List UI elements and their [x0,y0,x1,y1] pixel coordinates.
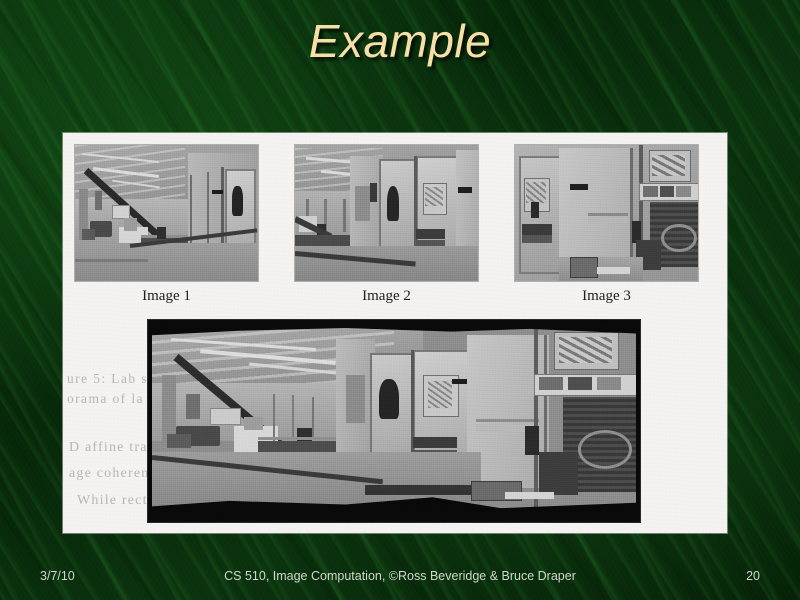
footer-page-number: 20 [746,569,760,583]
source-image-1 [75,145,258,281]
caption-image-1: Image 1 [75,288,258,305]
panorama-frame [148,320,640,522]
ghost-caption-line-2: orama of la [67,391,144,407]
caption-image-3: Image 3 [515,288,698,305]
panorama-image [152,328,636,510]
footer-attribution: CS 510, Image Computation, ©Ross Beverid… [0,569,800,583]
figure-panel: ure 5: Lab sequence. (Bottom) orama of l… [63,133,727,533]
page-title: Example [0,14,800,68]
source-image-3 [515,145,698,281]
caption-image-2: Image 2 [295,288,478,305]
source-image-2 [295,145,478,281]
presentation-slide: Example ure 5: Lab sequence. (Bottom) or… [0,0,800,600]
